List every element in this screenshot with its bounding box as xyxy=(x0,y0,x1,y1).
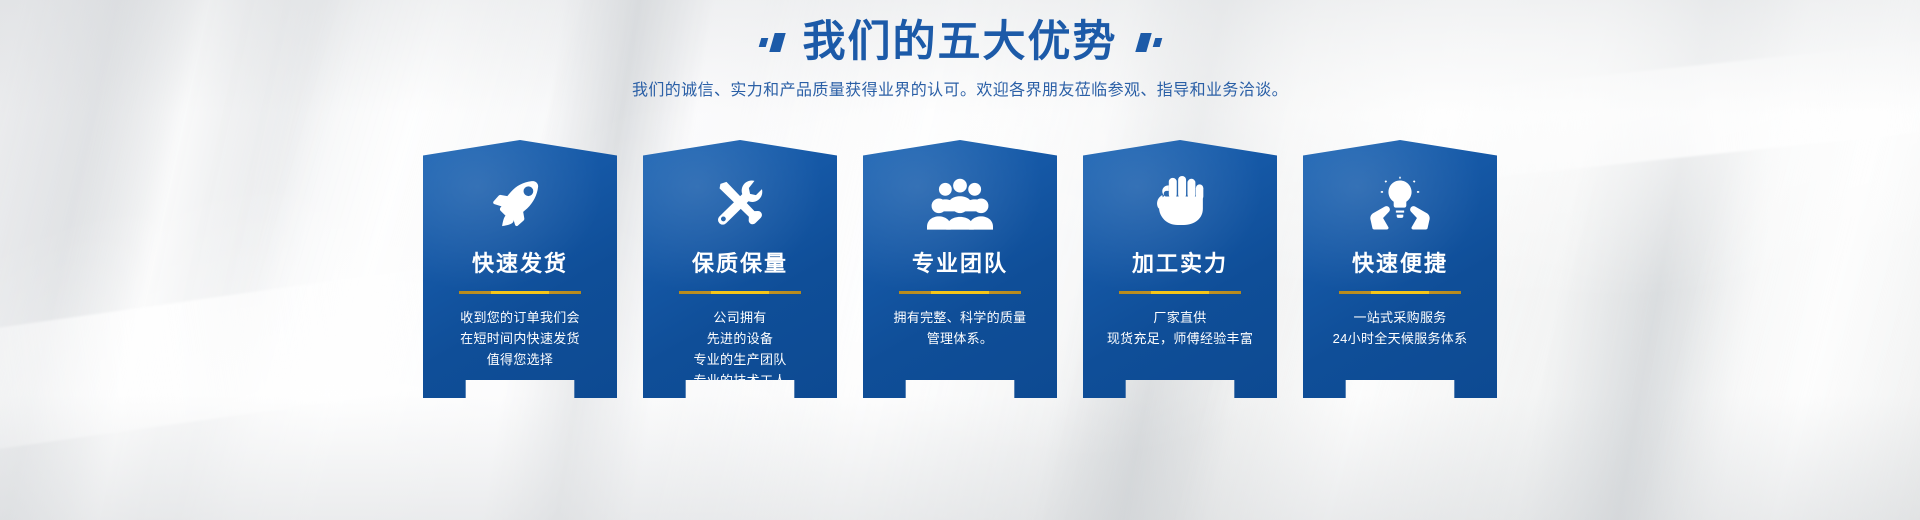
desc-line: 现货充足，师傅经验丰富 xyxy=(1107,328,1253,349)
desc-line: 先进的设备 xyxy=(693,328,786,349)
hands-bulb-icon xyxy=(1368,176,1432,232)
desc-line: 24小时全天候服务体系 xyxy=(1333,328,1468,349)
advantage-card[interactable]: 快速便捷 一站式采购服务 24小时全天候服务体系 xyxy=(1303,140,1497,398)
desc-line: 拥有完整、科学的质量 xyxy=(893,307,1026,328)
card-divider xyxy=(679,291,801,294)
card-title: 专业团队 xyxy=(912,246,1008,278)
rocket-icon xyxy=(490,176,550,232)
advantage-card[interactable]: 专业团队 拥有完整、科学的质量 管理体系。 xyxy=(863,140,1057,398)
page-subtitle: 我们的诚信、实力和产品质量获得业界的认可。欢迎各界朋友莅临参观、指导和业务洽谈。 xyxy=(0,76,1920,100)
desc-line: 专业的生产团队 xyxy=(693,349,786,370)
desc-line: 管理体系。 xyxy=(893,328,1026,349)
card-description: 收到您的订单我们会 在短时间内快速发货 值得您选择 xyxy=(460,307,580,370)
fist-icon xyxy=(1152,176,1208,232)
desc-line: 在短时间内快速发货 xyxy=(460,328,580,349)
team-icon xyxy=(927,176,993,232)
advantage-card[interactable]: 保质保量 公司拥有 先进的设备 专业的生产团队 专业的技术工人 xyxy=(643,140,837,398)
page-title: 我们的五大优势 xyxy=(803,18,1118,66)
card-divider xyxy=(459,291,581,294)
tools-icon xyxy=(710,176,770,232)
card-divider xyxy=(899,291,1021,294)
desc-line: 厂家直供 xyxy=(1107,307,1253,328)
title-decoration-right xyxy=(1138,33,1161,52)
card-description: 一站式采购服务 24小时全天候服务体系 xyxy=(1333,307,1468,349)
desc-line: 公司拥有 xyxy=(693,307,786,328)
card-divider xyxy=(1119,291,1241,294)
card-description: 厂家直供 现货充足，师傅经验丰富 xyxy=(1107,307,1253,349)
desc-line: 收到您的订单我们会 xyxy=(460,307,580,328)
desc-line: 值得您选择 xyxy=(460,349,580,370)
card-title: 快速发货 xyxy=(472,246,568,278)
card-title: 保质保量 xyxy=(692,246,788,278)
card-title: 加工实力 xyxy=(1132,246,1228,278)
advantage-card[interactable]: 快速发货 收到您的订单我们会 在短时间内快速发货 值得您选择 xyxy=(423,140,617,398)
card-title: 快速便捷 xyxy=(1352,246,1448,278)
desc-line: 专业的技术工人 xyxy=(693,370,786,391)
advantage-card[interactable]: 加工实力 厂家直供 现货充足，师傅经验丰富 xyxy=(1083,140,1277,398)
section-header: 我们的五大优势 我们的诚信、实力和产品质量获得业界的认可。欢迎各界朋友莅临参观、… xyxy=(0,18,1920,100)
advantage-card-list: 快速发货 收到您的订单我们会 在短时间内快速发货 值得您选择 保质保量 公司拥有… xyxy=(0,140,1920,398)
card-divider xyxy=(1339,291,1461,294)
card-description: 公司拥有 先进的设备 专业的生产团队 专业的技术工人 xyxy=(693,307,786,391)
card-description: 拥有完整、科学的质量 管理体系。 xyxy=(893,307,1026,349)
desc-line: 一站式采购服务 xyxy=(1333,307,1468,328)
title-decoration-left xyxy=(760,33,783,52)
